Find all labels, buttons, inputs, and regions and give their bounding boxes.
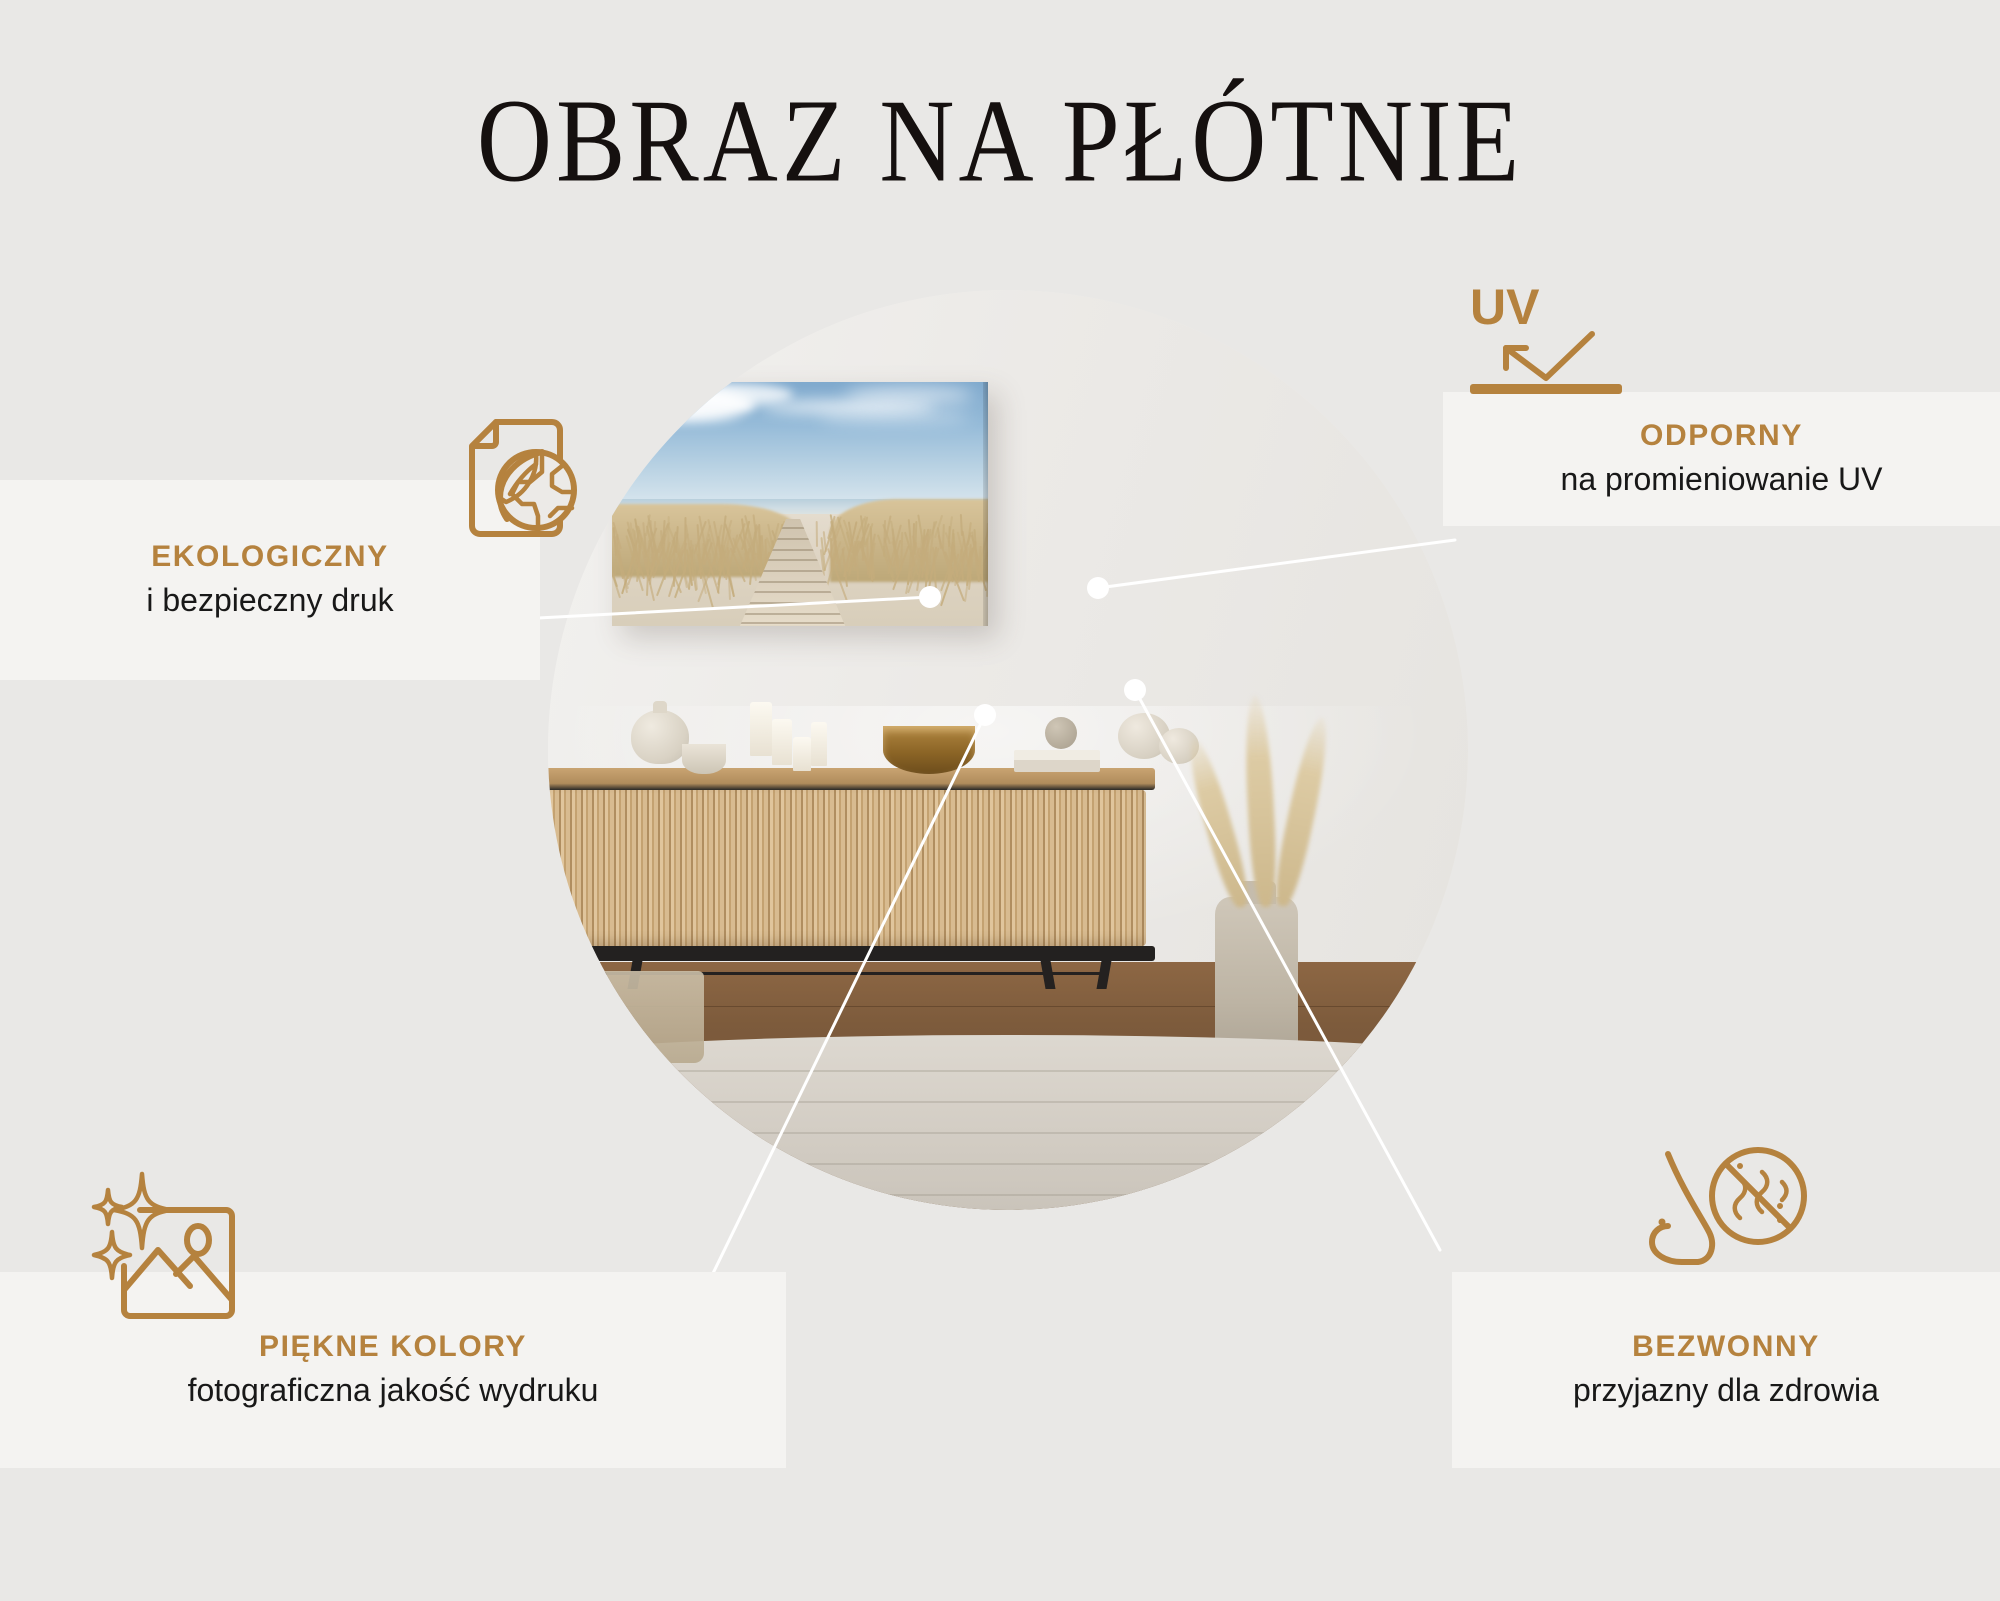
eco-document-globe-leaf-icon xyxy=(430,398,590,558)
woven-basket xyxy=(585,971,705,1063)
feature-title-uv: ODPORNY xyxy=(1443,417,2000,455)
decor-small-bowl xyxy=(682,744,726,774)
decor-stone-ball xyxy=(1045,717,1077,749)
feature-panel-uv[interactable]: ODPORNY na promieniowanie UV xyxy=(1443,392,2000,526)
feature-subtitle-odor: przyjazny dla zdrowia xyxy=(1452,1370,2000,1412)
decor-candle-tall xyxy=(750,702,772,756)
decor-brass-bowl xyxy=(883,726,975,774)
uv-resistance-icon: UV xyxy=(1470,278,1640,398)
feature-title-colors: PIĘKNE KOLORY xyxy=(0,1328,786,1366)
decor-books xyxy=(1014,750,1100,772)
uv-icon-label: UV xyxy=(1470,279,1540,335)
page-title: OBRAZ NA PŁÓTNIE xyxy=(0,78,2000,206)
feature-title-odor: BEZWONNY xyxy=(1452,1328,2000,1366)
decor-candle-mid xyxy=(772,719,792,765)
decor-round-vase xyxy=(631,710,689,764)
artwork-sky xyxy=(612,382,987,509)
feature-subtitle-eco: i bezpieczny druk xyxy=(0,580,540,622)
infographic-stage: OBRAZ NA PŁÓTNIE xyxy=(0,0,2000,1601)
sideboard xyxy=(548,768,1155,980)
no-odor-nose-icon xyxy=(1638,1144,1818,1304)
sparkling-photo-icon xyxy=(78,1166,250,1326)
decor-candle-slim xyxy=(811,722,827,766)
feature-subtitle-uv: na promieniowanie UV xyxy=(1443,459,2000,501)
canvas-artwork xyxy=(612,382,987,626)
room-scene-circle xyxy=(548,290,1468,1210)
feature-subtitle-colors: fotograficzna jakość wydruku xyxy=(0,1370,786,1412)
room-scene xyxy=(548,290,1468,1210)
decor-candle-short xyxy=(793,737,811,771)
